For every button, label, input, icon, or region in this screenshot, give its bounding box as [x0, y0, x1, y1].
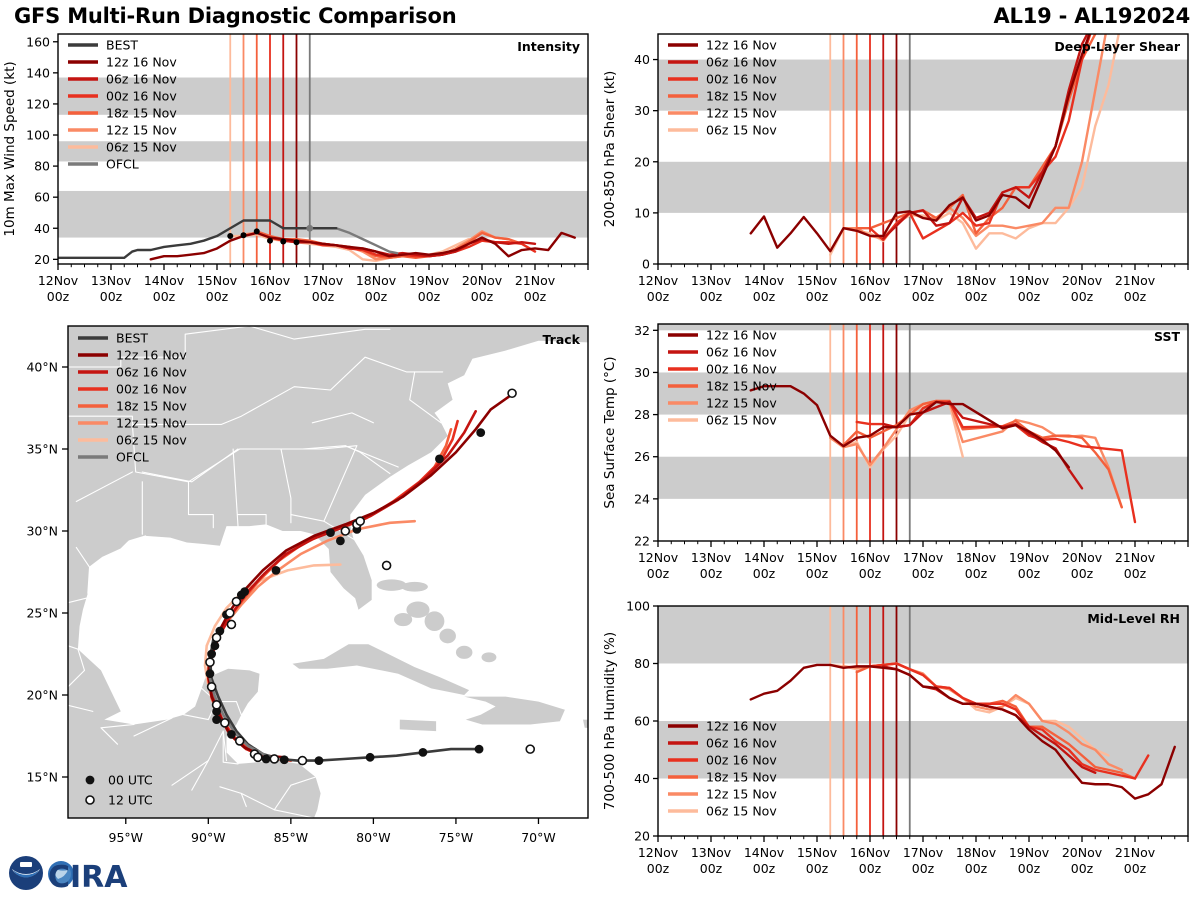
track-marker-12utc	[208, 683, 216, 691]
x-tick-label-hour: 00z	[647, 289, 670, 304]
track-marker-12utc	[270, 755, 278, 763]
category-band	[58, 191, 588, 238]
legend-label: 18z 15 Nov	[706, 770, 777, 785]
track-marker-00utc	[326, 528, 335, 537]
legend-label: 12z 15 Nov	[706, 396, 777, 411]
legend-label: 06z 15 Nov	[706, 804, 777, 819]
y-tick-label: 32	[634, 323, 650, 338]
x-tick-label-hour: 00z	[1018, 861, 1041, 876]
category-band	[658, 457, 1188, 499]
y-axis-title: Sea Surface Temp (°C)	[602, 356, 618, 508]
y-axis-title: 10m Max Wind Speed (kt)	[2, 61, 18, 236]
x-tick-label-date: 20Nov	[462, 273, 503, 288]
x-tick-label-date: 18Nov	[956, 550, 997, 565]
track-marker-12utc	[213, 634, 221, 642]
puerto-rico-land	[583, 720, 600, 729]
noaa-icon	[9, 856, 43, 890]
bahamas-island-1	[401, 582, 427, 592]
y-tick-label: 120	[26, 96, 50, 111]
track-marker-12utc	[213, 701, 221, 709]
x-tick-label-hour: 00z	[365, 289, 388, 304]
track-marker-00utc	[262, 755, 271, 764]
y-tick-label: 160	[26, 34, 50, 49]
lon-tick-label: 75°W	[439, 830, 474, 845]
marker-legend-label: 12 UTC	[108, 793, 153, 808]
run-marker	[241, 232, 247, 238]
run-marker	[294, 239, 300, 245]
lon-tick-label: 80°W	[356, 830, 391, 845]
x-tick-label-hour: 00z	[806, 861, 829, 876]
y-tick-label: 40	[634, 771, 650, 786]
sst-plot: 22242628303212Nov00z13Nov00z14Nov00z15No…	[602, 323, 1188, 581]
legend-label: 06z 15 Nov	[706, 413, 777, 428]
x-tick-label-date: 19Nov	[1009, 845, 1050, 860]
x-tick-label-date: 20Nov	[1062, 550, 1103, 565]
legend-label: 12z 15 Nov	[706, 106, 777, 121]
diagnostic-figure: GFS Multi-Run Diagnostic Comparison AL19…	[0, 0, 1200, 900]
y-tick-label: 40	[34, 221, 50, 236]
x-tick-label-date: 14Nov	[744, 550, 785, 565]
x-tick-label-hour: 00z	[1071, 289, 1094, 304]
marker-legend-12utc	[86, 796, 94, 804]
x-tick-label-hour: 00z	[47, 289, 70, 304]
y-tick-label: 24	[634, 491, 650, 506]
y-tick-label: 20	[34, 252, 50, 267]
legend-label: 18z 15 Nov	[106, 106, 177, 121]
x-tick-label-hour: 00z	[312, 289, 335, 304]
x-tick-label-hour: 00z	[206, 289, 229, 304]
run-marker	[280, 238, 286, 244]
y-tick-label: 28	[634, 407, 650, 422]
y-tick-label: 30	[634, 103, 650, 118]
y-tick-label: 20	[634, 154, 650, 169]
track-marker-12utc	[227, 620, 235, 628]
svg-text:CIRA: CIRA	[48, 860, 128, 895]
x-tick-label-date: 18Nov	[956, 273, 997, 288]
track-marker-12utc	[508, 389, 516, 397]
ofcl-marker	[306, 225, 313, 232]
legend-label: 18z 15 Nov	[706, 89, 777, 104]
x-tick-label-date: 20Nov	[1062, 273, 1103, 288]
cira-wordmark: CIRA	[48, 860, 128, 895]
bahamas-island-3	[425, 611, 445, 631]
x-tick-label-hour: 00z	[259, 289, 282, 304]
legend-label: 06z 15 Nov	[106, 140, 177, 155]
rh-chart-svg: 2040608010012Nov00z13Nov00z14Nov00z15Nov…	[600, 598, 1200, 898]
x-tick-label-date: 15Nov	[797, 273, 838, 288]
shear-plot: 01020304012Nov00z13Nov00z14Nov00z15Nov00…	[602, 26, 1188, 304]
track-marker-00utc	[240, 587, 249, 596]
x-tick-label-date: 21Nov	[1115, 550, 1156, 565]
lat-tick-label: 40°N	[26, 360, 58, 375]
bahamas-island-5	[456, 646, 473, 659]
x-tick-label-hour: 00z	[153, 289, 176, 304]
y-tick-label: 60	[34, 190, 50, 205]
x-tick-label-date: 17Nov	[303, 273, 344, 288]
x-tick-label-hour: 00z	[524, 289, 547, 304]
run-marker	[227, 233, 233, 239]
lat-tick-label: 30°N	[26, 524, 58, 539]
x-tick-label-hour: 00z	[912, 566, 935, 581]
y-tick-label: 10	[634, 205, 650, 220]
legend-label: BEST	[106, 38, 138, 53]
track-marker-00utc	[280, 755, 289, 764]
y-tick-label: 140	[26, 65, 50, 80]
x-tick-label-date: 13Nov	[91, 273, 132, 288]
track-marker-12utc	[226, 609, 234, 617]
legend-label: BEST	[116, 331, 148, 346]
x-tick-label-hour: 00z	[700, 289, 723, 304]
x-tick-label-hour: 00z	[965, 566, 988, 581]
x-tick-label-date: 15Nov	[797, 845, 838, 860]
track-marker-00utc	[272, 566, 281, 575]
track-marker-12utc	[341, 527, 349, 535]
rh-panel: 2040608010012Nov00z13Nov00z14Nov00z15Nov…	[600, 598, 1200, 898]
lat-tick-label: 15°N	[26, 770, 58, 785]
x-tick-label-date: 12Nov	[638, 845, 679, 860]
x-tick-label-hour: 00z	[965, 289, 988, 304]
x-tick-label-hour: 00z	[700, 566, 723, 581]
intensity-plot: 2040608010012014016012Nov00z13Nov00z14No…	[2, 34, 588, 304]
track-marker-00utc	[366, 753, 375, 762]
y-tick-label: 60	[634, 714, 650, 729]
track-marker-12utc	[206, 658, 214, 666]
track-marker-00utc	[211, 641, 220, 650]
shear-chart-svg: 01020304012Nov00z13Nov00z14Nov00z15Nov00…	[600, 26, 1200, 326]
jamaica-land	[400, 720, 436, 732]
panel-title: Deep-Layer Shear	[1054, 39, 1180, 54]
panel-title: Intensity	[517, 39, 580, 54]
x-tick-label-date: 17Nov	[903, 550, 944, 565]
rh-plot: 2040608010012Nov00z13Nov00z14Nov00z15Nov…	[602, 599, 1188, 877]
legend-label: 06z 15 Nov	[706, 123, 777, 138]
legend-label: 06z 16 Nov	[706, 55, 777, 70]
track-marker-12utc	[254, 753, 262, 761]
legend-label: 12z 16 Nov	[706, 328, 777, 343]
track-marker-00utc	[212, 715, 221, 724]
lon-tick-label: 90°W	[191, 830, 226, 845]
x-tick-label-date: 16Nov	[850, 273, 891, 288]
x-tick-label-hour: 00z	[700, 861, 723, 876]
x-tick-label-hour: 00z	[1124, 289, 1147, 304]
x-tick-label-hour: 00z	[753, 861, 776, 876]
track-marker-00utc	[207, 650, 216, 659]
track-marker-00utc	[476, 428, 485, 437]
x-tick-label-hour: 00z	[806, 566, 829, 581]
x-tick-label-hour: 00z	[1124, 566, 1147, 581]
legend-label: 06z 16 Nov	[706, 736, 777, 751]
y-tick-label: 80	[34, 159, 50, 174]
lat-tick-label: 35°N	[26, 442, 58, 457]
track-marker-12utc	[526, 745, 534, 753]
x-tick-label-date: 12Nov	[638, 550, 679, 565]
bahamas-island-4	[439, 629, 456, 644]
x-tick-label-hour: 00z	[912, 289, 935, 304]
bahamas-island-6	[482, 652, 497, 662]
lat-tick-label: 25°N	[26, 606, 58, 621]
track-marker-00utc	[315, 756, 324, 765]
legend-label: OFCL	[106, 157, 139, 172]
x-tick-label-hour: 00z	[965, 861, 988, 876]
x-tick-label-date: 14Nov	[744, 273, 785, 288]
marker-legend-00utc	[86, 776, 95, 785]
x-tick-label-hour: 00z	[1018, 289, 1041, 304]
x-tick-label-hour: 00z	[1071, 566, 1094, 581]
bahamas-island-0	[377, 579, 407, 590]
shear-panel: 01020304012Nov00z13Nov00z14Nov00z15Nov00…	[600, 26, 1200, 326]
legend-label: OFCL	[116, 450, 149, 465]
legend-label: 12z 15 Nov	[106, 123, 177, 138]
y-tick-label: 40	[634, 52, 650, 67]
run-marker	[254, 228, 260, 234]
track-plot: 15°N20°N25°N30°N35°N40°N95°W90°W85°W80°W…	[26, 318, 600, 845]
x-tick-label-date: 20Nov	[1062, 845, 1103, 860]
track-marker-12utc	[232, 598, 240, 606]
panel-title: SST	[1154, 329, 1180, 344]
x-tick-label-date: 13Nov	[691, 550, 732, 565]
x-tick-label-date: 16Nov	[250, 273, 291, 288]
x-tick-label-hour: 00z	[1071, 861, 1094, 876]
y-tick-label: 30	[634, 365, 650, 380]
legend-label: 12z 15 Nov	[706, 787, 777, 802]
legend-label: 00z 16 Nov	[116, 382, 187, 397]
sst-chart-svg: 22242628303212Nov00z13Nov00z14Nov00z15No…	[600, 318, 1200, 603]
track-marker-12utc	[221, 719, 229, 727]
intensity-panel: 2040608010012014016012Nov00z13Nov00z14No…	[0, 26, 600, 326]
sst-panel: 22242628303212Nov00z13Nov00z14Nov00z15No…	[600, 318, 1200, 603]
cira-logo: CIRA	[6, 852, 156, 898]
legend-label: 18z 15 Nov	[706, 379, 777, 394]
track-marker-00utc	[419, 748, 428, 757]
x-tick-label-date: 16Nov	[850, 550, 891, 565]
legend-label: 00z 16 Nov	[706, 753, 777, 768]
x-tick-label-date: 12Nov	[638, 273, 679, 288]
x-tick-label-hour: 00z	[100, 289, 123, 304]
x-tick-label-date: 18Nov	[956, 845, 997, 860]
x-tick-label-hour: 00z	[1018, 566, 1041, 581]
track-marker-00utc	[435, 454, 444, 463]
track-marker-12utc	[356, 517, 364, 525]
y-tick-label: 20	[634, 829, 650, 844]
x-tick-label-date: 16Nov	[850, 845, 891, 860]
x-tick-label-date: 15Nov	[797, 550, 838, 565]
y-axis-title: 200-850 hPa Shear (kt)	[602, 71, 618, 228]
page-title: GFS Multi-Run Diagnostic Comparison	[14, 4, 456, 28]
track-marker-12utc	[298, 757, 306, 765]
x-tick-label-hour: 00z	[471, 289, 494, 304]
y-tick-label: 100	[26, 128, 50, 143]
x-tick-label-hour: 00z	[1124, 861, 1147, 876]
track-map-svg: 15°N20°N25°N30°N35°N40°N95°W90°W85°W80°W…	[0, 318, 600, 878]
legend-label: 06z 16 Nov	[706, 345, 777, 360]
legend-label: 12z 15 Nov	[116, 416, 187, 431]
legend-label: 12z 16 Nov	[116, 348, 187, 363]
panel-title: Mid-Level RH	[1087, 611, 1180, 626]
intensity-chart-svg: 2040608010012014016012Nov00z13Nov00z14No…	[0, 26, 600, 326]
y-tick-label: 80	[634, 656, 650, 671]
x-tick-label-date: 19Nov	[409, 273, 450, 288]
track-marker-12utc	[383, 561, 391, 569]
x-tick-label-hour: 00z	[912, 861, 935, 876]
x-tick-label-hour: 00z	[418, 289, 441, 304]
x-tick-label-hour: 00z	[859, 861, 882, 876]
x-tick-label-hour: 00z	[859, 566, 882, 581]
category-band	[658, 162, 1188, 213]
legend-label: 00z 16 Nov	[106, 89, 177, 104]
x-tick-label-hour: 00z	[806, 289, 829, 304]
storm-id-title: AL19 - AL192024	[993, 4, 1190, 28]
x-tick-label-hour: 00z	[647, 861, 670, 876]
legend-label: 06z 16 Nov	[116, 365, 187, 380]
y-tick-label: 0	[642, 257, 650, 272]
legend-label: 18z 15 Nov	[116, 399, 187, 414]
track-marker-00utc	[336, 536, 345, 545]
legend-label: 12z 16 Nov	[706, 719, 777, 734]
legend-label: 12z 16 Nov	[106, 55, 177, 70]
lat-tick-label: 20°N	[26, 688, 58, 703]
x-tick-label-hour: 00z	[859, 289, 882, 304]
y-axis-title: 700-500 hPa Humidity (%)	[602, 632, 618, 810]
x-tick-label-date: 19Nov	[1009, 273, 1050, 288]
legend-label: 00z 16 Nov	[706, 362, 777, 377]
x-tick-label-date: 19Nov	[1009, 550, 1050, 565]
marker-legend-label: 00 UTC	[108, 773, 153, 788]
legend-label: 12z 16 Nov	[706, 38, 777, 53]
x-tick-label-date: 13Nov	[691, 845, 732, 860]
y-tick-label: 100	[626, 599, 650, 614]
x-tick-label-date: 21Nov	[1115, 845, 1156, 860]
track-marker-00utc	[206, 669, 215, 678]
run-marker	[267, 238, 273, 244]
x-tick-label-date: 15Nov	[197, 273, 238, 288]
lon-tick-label: 85°W	[274, 830, 309, 845]
x-tick-label-date: 18Nov	[356, 273, 397, 288]
track-marker-00utc	[227, 730, 236, 739]
x-tick-label-date: 21Nov	[515, 273, 556, 288]
bahamas-island-7	[394, 613, 412, 626]
x-tick-label-date: 17Nov	[903, 273, 944, 288]
x-tick-label-date: 14Nov	[744, 845, 785, 860]
track-marker-00utc	[475, 745, 484, 754]
legend-label: 06z 15 Nov	[116, 433, 187, 448]
y-tick-label: 22	[634, 534, 650, 549]
x-tick-label-date: 17Nov	[903, 845, 944, 860]
legend-label: 00z 16 Nov	[706, 72, 777, 87]
logo-graphic: CIRA	[6, 852, 156, 898]
track-marker-12utc	[236, 737, 244, 745]
y-tick-label: 26	[634, 449, 650, 464]
x-tick-label-date: 14Nov	[144, 273, 185, 288]
panel-title: Track	[543, 332, 581, 347]
x-tick-label-date: 21Nov	[1115, 273, 1156, 288]
legend-label: 06z 16 Nov	[106, 72, 177, 87]
x-tick-label-hour: 00z	[753, 289, 776, 304]
x-tick-label-date: 12Nov	[38, 273, 79, 288]
x-tick-label-hour: 00z	[753, 566, 776, 581]
x-tick-label-hour: 00z	[647, 566, 670, 581]
lon-tick-label: 95°W	[109, 830, 144, 845]
x-tick-label-date: 13Nov	[691, 273, 732, 288]
lon-tick-label: 70°W	[521, 830, 556, 845]
track-panel: 15°N20°N25°N30°N35°N40°N95°W90°W85°W80°W…	[0, 318, 600, 878]
